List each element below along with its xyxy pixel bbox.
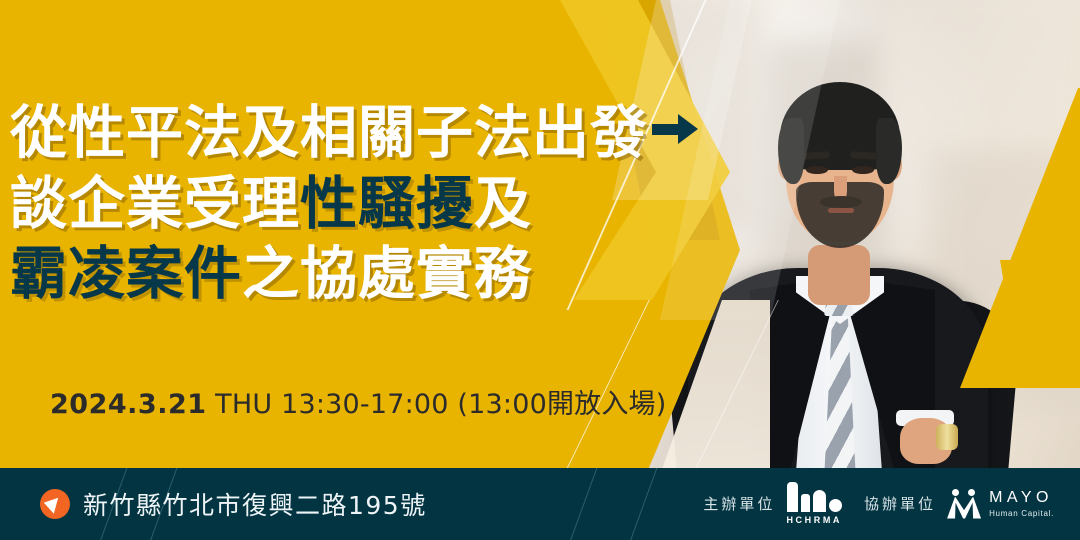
event-title: 從性平法及相關子法出發 談企業受理性騷擾及 霸凌案件之協處實務: [0, 98, 720, 310]
wristwatch: [936, 424, 958, 450]
arrow-right-icon: [652, 114, 698, 144]
mayo-peaks: [947, 497, 981, 519]
title-line-2: 談企業受理性騷擾及: [0, 169, 720, 240]
title-line-2-highlight: 性騷擾: [300, 171, 474, 237]
hchrma-bar: [801, 494, 810, 512]
event-date: 2024.3.21: [50, 389, 207, 420]
decorative-diagonal-line: [621, 468, 660, 540]
mayo-logo: MAYO Human Capital.: [947, 489, 1054, 519]
title-line-3: 霸凌案件之協處實務: [0, 239, 720, 310]
mayo-wordmark: MAYO Human Capital.: [989, 489, 1054, 518]
event-datetime: 2024.3.21 THU 13:30-17:00 (13:00開放入場): [50, 382, 667, 421]
hchrma-bar: [787, 482, 798, 512]
organizer-group: 主辦單位 HCHRMA: [703, 482, 842, 525]
event-banner: 從性平法及相關子法出發 談企業受理性騷擾及 霸凌案件之協處實務 2024.3.2…: [0, 0, 1080, 540]
venue-address: 新竹縣竹北市復興二路195號: [40, 486, 427, 522]
organizer-label: 主辦單位: [703, 493, 775, 514]
hchrma-logo-mark: [787, 482, 842, 512]
hchrma-logo: HCHRMA: [786, 482, 842, 525]
neck: [808, 245, 870, 305]
footer-bar: 新竹縣竹北市復興二路195號 主辦單位 HCHRMA 協辦單位: [0, 468, 1080, 540]
hchrma-dot: [829, 499, 842, 512]
title-line-1: 從性平法及相關子法出發: [0, 98, 720, 169]
eye-right: [852, 166, 874, 174]
title-line-1-text: 從性平法及相關子法出發: [10, 100, 648, 166]
mayo-tagline: Human Capital.: [989, 509, 1054, 518]
mayo-dot: [968, 489, 975, 496]
event-time: THU 13:30-17:00 (13:00開放入場): [215, 389, 666, 420]
coorganizer-label: 協辦單位: [864, 493, 936, 514]
title-line-2-text-b: 及: [474, 171, 532, 237]
moustache: [820, 196, 862, 208]
decorative-diagonal-line: [561, 468, 600, 540]
organizer-logos: 主辦單位 HCHRMA 協辦單位: [703, 482, 1054, 525]
hchrma-wordmark: HCHRMA: [786, 515, 842, 525]
hchrma-bar: [813, 490, 826, 512]
mouth: [828, 208, 854, 213]
mayo-dot: [952, 489, 959, 496]
mayo-logo-mark: [947, 489, 981, 519]
navigation-pin-icon: [40, 489, 70, 519]
mayo-name: MAYO: [989, 489, 1054, 507]
venue-address-text: 新竹縣竹北市復興二路195號: [83, 486, 427, 522]
coorganizer-group: 協辦單位 MAYO Human Capital.: [864, 489, 1054, 519]
title-line-3-highlight: 霸凌案件: [10, 241, 242, 307]
title-line-2-text-a: 談企業受理: [10, 171, 300, 237]
title-line-3-text: 之協處實務: [242, 241, 532, 307]
